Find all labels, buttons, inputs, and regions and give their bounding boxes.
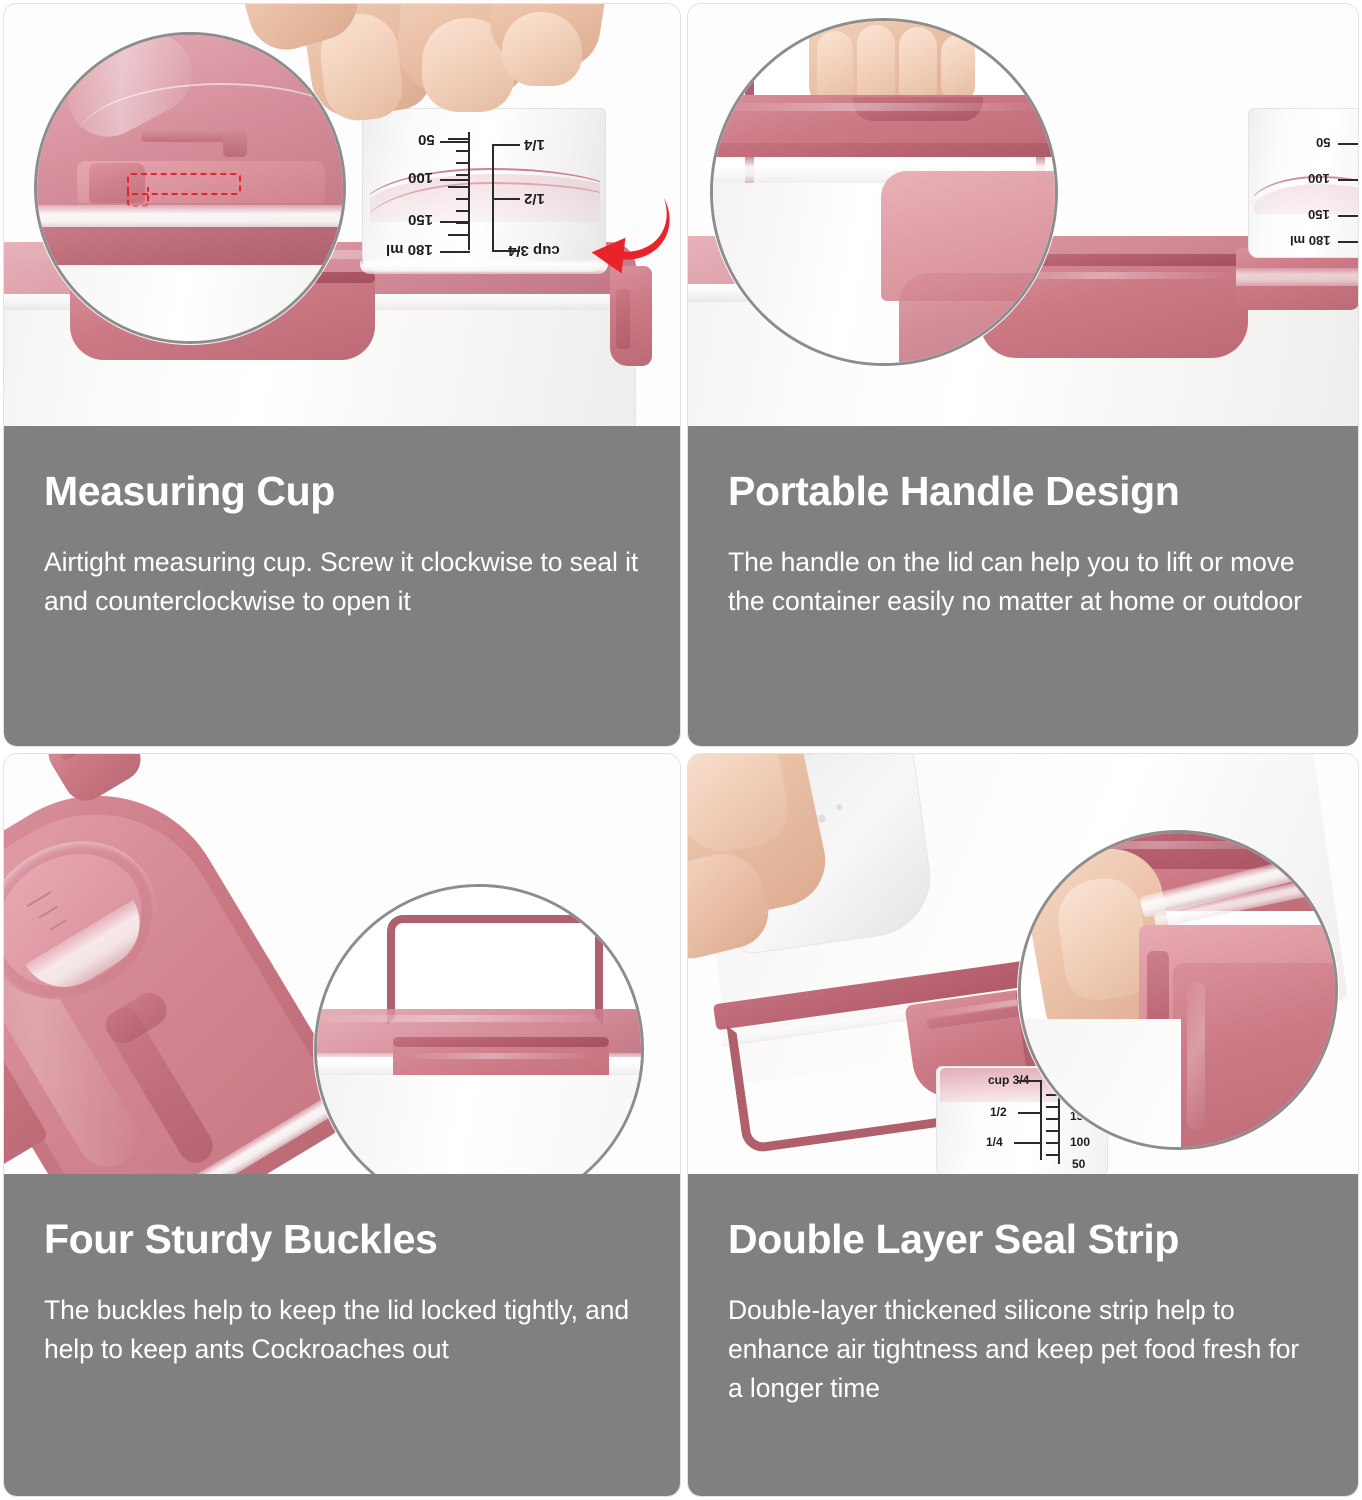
product-photo-double-layer-seal-strip: cup 3/4 1/2 1/4 180 ml 150 100 50 <box>688 754 1358 1174</box>
card-body: Airtight measuring cup. Screw it clockwi… <box>44 543 640 621</box>
card-title: Measuring Cup <box>44 470 640 513</box>
card-body: The handle on the lid can help you to li… <box>728 543 1318 621</box>
cup-label-100: 100 <box>408 170 433 185</box>
cup-label-150: 150 <box>408 212 433 227</box>
feature-card-portable-handle[interactable]: 50 100 150 180 ml <box>687 3 1359 747</box>
container-lid-angled <box>4 754 363 1174</box>
caption-double-layer-seal-strip: Double Layer Seal Strip Double-layer thi… <box>688 1174 1358 1496</box>
product-photo-four-sturdy-buckles <box>4 754 680 1174</box>
cup-label-quarter: 1/4 <box>524 137 545 152</box>
cup-label-180ml: 180 ml <box>1290 234 1330 247</box>
caption-portable-handle: Portable Handle Design The handle on the… <box>688 426 1358 746</box>
red-arrow-icon <box>582 190 674 274</box>
feature-grid: 50 100 150 180 ml 1/4 1/2 cup 3/4 <box>0 0 1362 1500</box>
cup-label-half: 1/2 <box>524 191 545 206</box>
cup-label-150: 150 <box>1308 208 1330 221</box>
caption-four-sturdy-buckles: Four Sturdy Buckles The buckles help to … <box>4 1174 680 1496</box>
feature-card-four-sturdy-buckles[interactable]: Four Sturdy Buckles The buckles help to … <box>3 753 681 1497</box>
card-title: Four Sturdy Buckles <box>44 1218 640 1261</box>
card-body: Double-layer thickened silicone strip he… <box>728 1291 1318 1408</box>
magnifier-inset-seal-strip <box>1018 830 1338 1150</box>
feature-card-measuring-cup[interactable]: 50 100 150 180 ml 1/4 1/2 cup 3/4 <box>3 3 681 747</box>
cup-label-three-quarter-cup: cup 3/4 <box>508 243 560 258</box>
card-title: Portable Handle Design <box>728 470 1318 513</box>
cup-label-50: 50 <box>1316 136 1330 149</box>
card-body: The buckles help to keep the lid locked … <box>44 1291 640 1369</box>
magnifier-inset-screw-thread <box>34 32 346 344</box>
cup-label-quarter: 1/4 <box>986 1136 1003 1148</box>
product-photo-portable-handle: 50 100 150 180 ml <box>688 4 1358 426</box>
cup-label-50: 50 <box>418 132 435 147</box>
cup-label-half: 1/2 <box>990 1106 1007 1118</box>
product-photo-measuring-cup: 50 100 150 180 ml 1/4 1/2 cup 3/4 <box>4 4 680 426</box>
cup-label-50: 50 <box>1072 1158 1085 1170</box>
caption-measuring-cup: Measuring Cup Airtight measuring cup. Sc… <box>4 426 680 746</box>
cup-label-100: 100 <box>1308 172 1330 185</box>
magnifier-inset-handle-grip <box>710 18 1058 366</box>
feature-card-double-layer-seal-strip[interactable]: cup 3/4 1/2 1/4 180 ml 150 100 50 <box>687 753 1359 1497</box>
magnifier-inset-buckle <box>314 884 644 1174</box>
card-title: Double Layer Seal Strip <box>728 1218 1318 1261</box>
cup-label-180ml: 180 ml <box>386 242 433 257</box>
